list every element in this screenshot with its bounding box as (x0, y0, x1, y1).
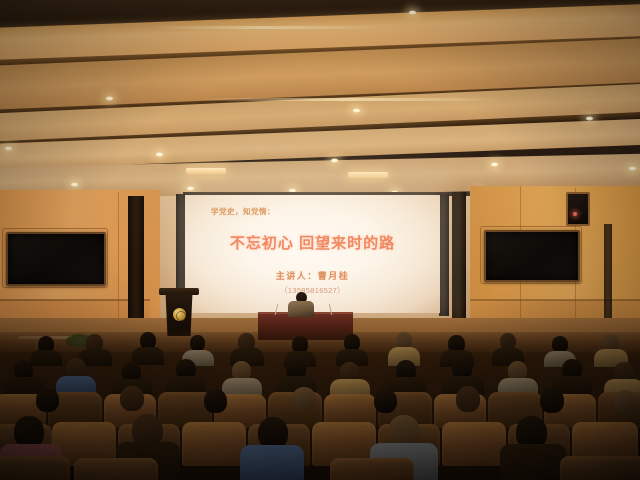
auditorium-seat (182, 422, 246, 466)
ceiling-spotlight (186, 186, 195, 191)
auditorium-seat (560, 456, 640, 480)
audience-seating-area (0, 332, 640, 480)
lecture-hall-photo: 学党史，知党情： 不忘初心 回望来时的路 主讲人：曹月桂 （1358581652… (0, 0, 640, 480)
ceiling-spotlight (408, 10, 417, 15)
audience-head (36, 388, 59, 412)
ceiling-spotlight (330, 158, 339, 163)
ceiling-spotlight (70, 182, 79, 187)
slide-kicker-text: 学党史，知党情： (211, 206, 275, 217)
audience-head (204, 389, 227, 413)
ceiling-slot-1 (150, 26, 380, 29)
auditorium-seat (0, 456, 70, 480)
ceiling-spotlight (585, 116, 594, 121)
audience-shoulders (132, 347, 164, 365)
audience-head (190, 335, 205, 351)
audience-shoulders (500, 444, 566, 480)
ceiling-slot-2 (200, 98, 500, 101)
auditorium-seat (330, 458, 414, 480)
audience-head (120, 386, 144, 411)
ceiling-light-bar (348, 172, 388, 178)
right-wall-seam (470, 299, 640, 301)
audience-head (456, 386, 480, 412)
auditorium-seat (74, 458, 158, 480)
auditorium-seat (442, 422, 506, 466)
ceiling-spotlight (105, 96, 114, 101)
ceiling-spotlight (352, 108, 361, 113)
ceiling-spotlight (155, 152, 164, 157)
audience-shoulders (240, 445, 304, 480)
left-display-recess (2, 228, 108, 288)
ceiling-spotlight (4, 146, 13, 151)
ceiling-spotlight (628, 166, 637, 171)
audience-head (374, 389, 397, 413)
audience-head (614, 390, 637, 414)
lectern-top (159, 288, 199, 295)
ceiling-light-bar (186, 168, 226, 174)
audience-head (292, 387, 316, 412)
screen-right-border (439, 194, 449, 316)
audience-head (540, 388, 564, 413)
seated-presenter (288, 292, 314, 316)
presenter-torso (288, 301, 314, 317)
ceiling-spotlight (490, 162, 499, 167)
lectern-seal-inner-ring (176, 311, 186, 321)
audience-shoulders (30, 350, 62, 366)
right-display-recess (480, 226, 582, 284)
loudspeaker-led-indicator (573, 212, 577, 216)
wall-loudspeaker (566, 192, 590, 226)
slide-speaker-text: 主讲人：曹月桂 (276, 269, 350, 282)
slide-title-text: 不忘初心 回望来时的路 (230, 232, 395, 253)
